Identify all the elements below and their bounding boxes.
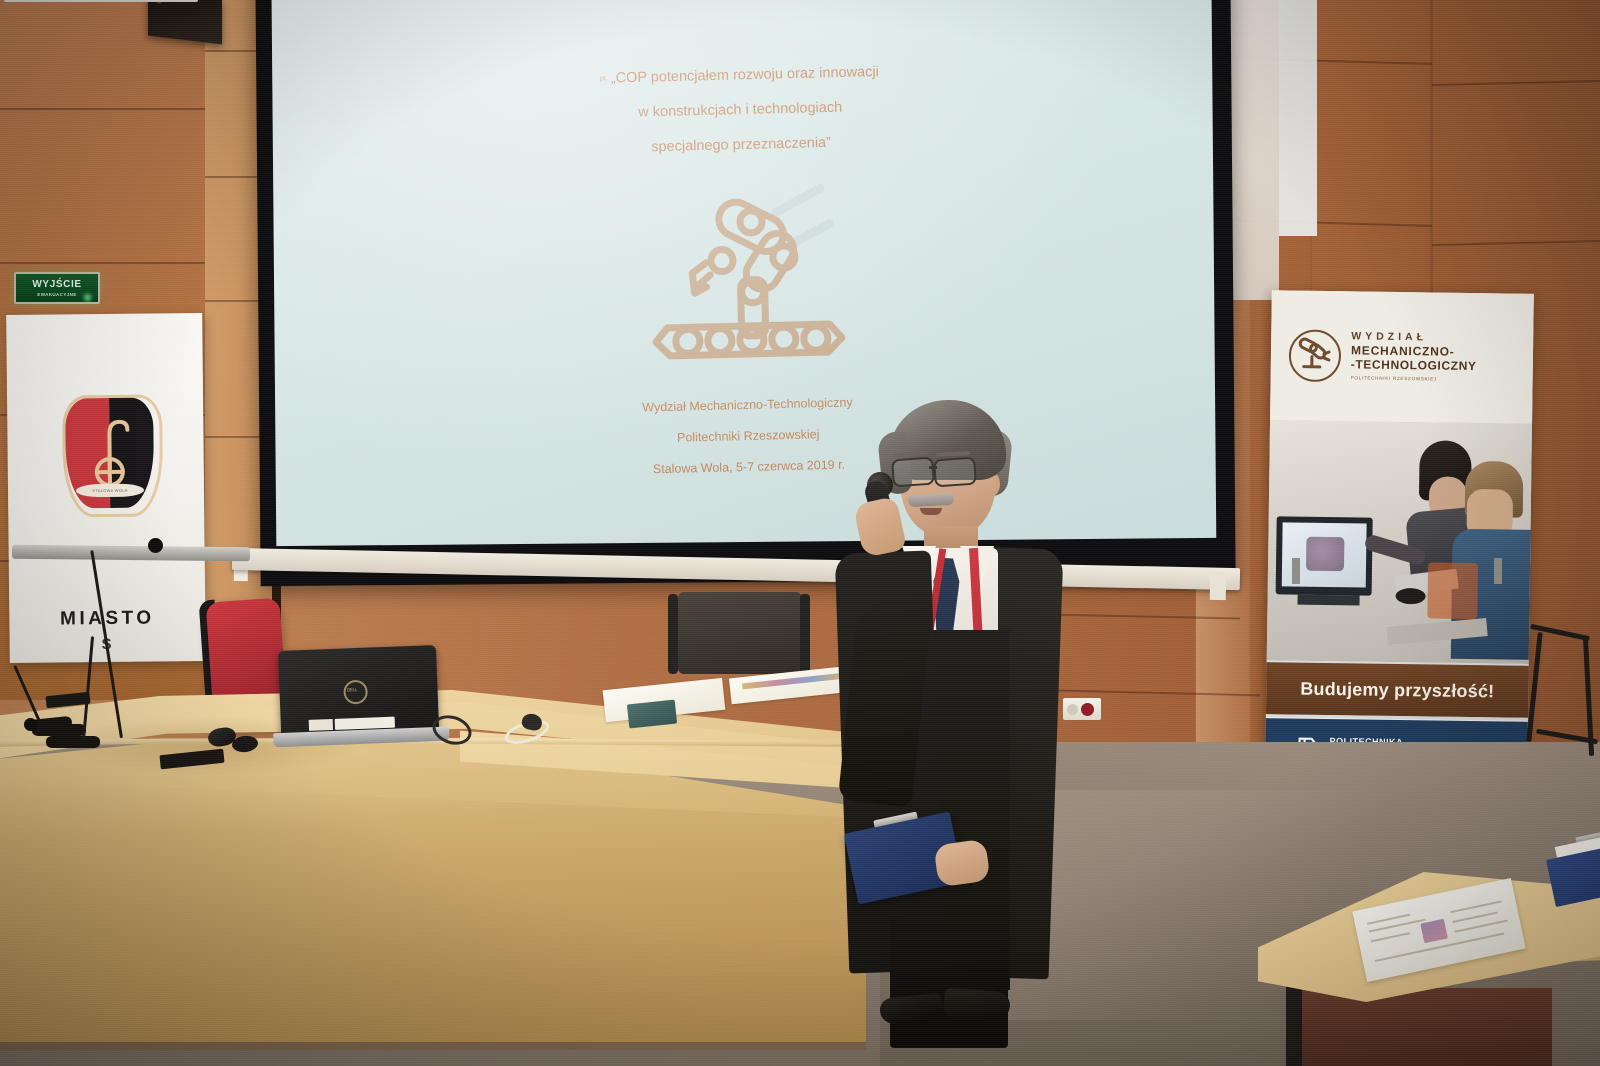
right-banner-header: WYDZIAŁ MECHANICZNO- -TECHNOLOGICZNY POL… (1270, 290, 1534, 424)
banner-heading-line-3: -TECHNOLOGICZNY (1351, 357, 1477, 373)
cad-model (1306, 537, 1344, 572)
exit-sign-sublabel: EWAKUACYJNE (37, 292, 76, 297)
trousers (890, 918, 1008, 1048)
wmt-robot-arm-logo-icon (1289, 329, 1342, 382)
banner-leg (1292, 558, 1300, 584)
banner-leg (1494, 558, 1502, 584)
wall-panel-line (0, 108, 205, 110)
eyeglasses-left-lens (891, 457, 935, 488)
podium-front-shade (0, 780, 866, 1050)
crest-ribbon-label: STALOWA WOLA (76, 484, 144, 498)
ceiling-panel (1279, 0, 1317, 236)
banner-slogan-band: Budujemy przyszłość! (1266, 662, 1529, 718)
white-cables (500, 714, 556, 740)
screen-glare (271, 0, 1216, 546)
chair-arm (800, 594, 810, 674)
document-graphic (1420, 919, 1448, 944)
wall-panel-line (0, 262, 205, 264)
held-clipboard-group (840, 610, 970, 696)
mouth (920, 508, 942, 515)
table-modesty-panel (1302, 988, 1552, 1066)
dell-laptop[interactable] (270, 645, 446, 760)
stalowa-wola-crest-icon: STALOWA WOLA (65, 398, 154, 509)
banner-heading-line-4: POLITECHNIKI RZESZOWSKIEJ (1351, 373, 1477, 384)
projection-screen-surface: II MIĘDZYNARODOWA KONFERENCJA NAUKOWA pt… (271, 0, 1216, 546)
microphone-base (46, 736, 100, 748)
left-banner-title: MIASTO (9, 607, 205, 631)
chair-backrest (678, 592, 802, 674)
microphone-head-icon (24, 718, 37, 731)
lecture-hall-photo: WYJŚCIE EWAKUACYJNE II MIĘDZYNARODOWA KO… (0, 0, 1600, 1066)
laptop-sticker (309, 719, 333, 731)
left-banner-top-rail (4, 0, 198, 2)
hand-holding-microphone (853, 496, 907, 558)
folding-chair-frame (1530, 630, 1600, 810)
mouse-icon (1395, 588, 1425, 604)
banner-slogan-label: Budujemy przyszłość! (1300, 678, 1494, 702)
chair-arm (668, 594, 678, 674)
eyeglasses-right-lens (933, 457, 977, 488)
screen-bar-hook (1210, 572, 1226, 600)
shoe (943, 988, 1011, 1021)
left-rollup-banner: STALOWA WOLA MIASTO S (6, 313, 206, 663)
outlet-socket-red (1081, 703, 1094, 716)
crest-symbol-icon (89, 414, 130, 488)
crest-ribbon: STALOWA WOLA (76, 484, 144, 498)
teal-mousepad (627, 700, 677, 729)
right-banner-base (12, 545, 250, 561)
right-banner-photo (1267, 420, 1532, 664)
chair-back (1427, 562, 1478, 619)
projection-screen: II MIĘDZYNARODOWA KONFERENCJA NAUKOWA pt… (255, 0, 1235, 586)
conference-speaker (828, 398, 1060, 1066)
microphone-head-icon (148, 538, 163, 553)
front-right-table (1258, 842, 1600, 1066)
mustache (908, 493, 955, 507)
exit-sign-label: WYJŚCIE (32, 280, 81, 290)
eyeglasses-bridge (929, 466, 937, 469)
table-leg (1286, 982, 1302, 1066)
laptop-sticker (335, 717, 395, 730)
outlet-socket (1067, 704, 1078, 715)
power-outlet-icon (1063, 698, 1101, 720)
right-banner-heading: WYDZIAŁ MECHANICZNO- -TECHNOLOGICZNY POL… (1351, 330, 1477, 384)
exit-sign-indicator-icon (84, 294, 91, 301)
